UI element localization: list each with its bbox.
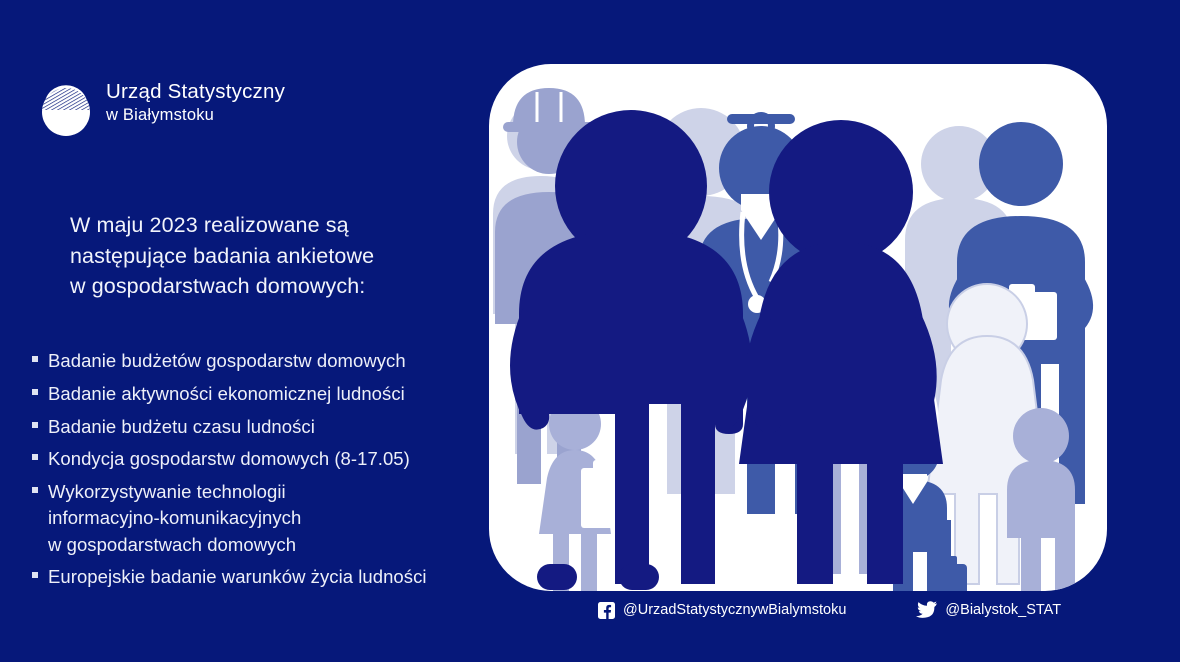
list-item-text: Wykorzystywanie technologii informacyjno… [48, 479, 496, 558]
social-footer: @UrzadStatystycznywBialymstoku @Bialysto… [598, 601, 1061, 619]
logo-line-1: Urząd Statystyczny [106, 80, 285, 104]
slide-root: Urząd Statystyczny w Białymstoku W maju … [0, 0, 1180, 662]
bullet-square-icon [26, 381, 48, 395]
bullet-square-icon [26, 414, 48, 428]
illustration-panel [489, 64, 1107, 591]
list-item-text: Badanie aktywności ekonomicznej ludności [48, 381, 496, 407]
child-girl [539, 398, 627, 591]
bullet-square-icon [26, 348, 48, 362]
list-item-text: Badanie budżetu czasu ludności [48, 414, 496, 440]
basket-logo-icon [38, 62, 94, 144]
bullet-square-icon [26, 446, 48, 460]
facebook-handle: @UrzadStatystycznywBialymstoku [623, 602, 846, 618]
crowd-of-people-illustration [489, 64, 1107, 591]
headline-line-1: W maju 2023 realizowane są [70, 210, 470, 241]
facebook-icon [598, 602, 615, 619]
list-item-text: Europejskie badanie warunków życia ludno… [48, 564, 496, 590]
list-item: Wykorzystywanie technologii informacyjno… [26, 479, 496, 558]
twitter-icon [916, 601, 937, 619]
list-item: Badanie aktywności ekonomicznej ludności [26, 381, 496, 407]
headline-line-3: w gospodarstwach domowych: [70, 271, 470, 302]
survey-list: Badanie budżetów gospodarstw domowych Ba… [26, 348, 496, 597]
list-item: Badanie budżetu czasu ludności [26, 414, 496, 440]
facebook-link[interactable]: @UrzadStatystycznywBialymstoku [598, 602, 846, 619]
list-item: Badanie budżetów gospodarstw domowych [26, 348, 496, 374]
list-item-text: Kondycja gospodarstw domowych (8-17.05) [48, 446, 496, 472]
headline-line-2: następujące badania ankietowe [70, 241, 470, 272]
twitter-link[interactable]: @Bialystok_STAT [916, 601, 1061, 619]
organization-logo: Urząd Statystyczny w Białymstoku [38, 62, 285, 144]
bullet-square-icon [26, 479, 48, 493]
list-item: Kondycja gospodarstw domowych (8-17.05) [26, 446, 496, 472]
twitter-handle: @Bialystok_STAT [945, 602, 1061, 618]
list-item-text: Badanie budżetów gospodarstw domowych [48, 348, 496, 374]
bullet-square-icon [26, 564, 48, 578]
list-item: Europejskie badanie warunków życia ludno… [26, 564, 496, 590]
headline: W maju 2023 realizowane są następujące b… [70, 210, 470, 302]
logo-line-2: w Białymstoku [106, 106, 285, 125]
logo-wordmark: Urząd Statystyczny w Białymstoku [106, 80, 285, 126]
